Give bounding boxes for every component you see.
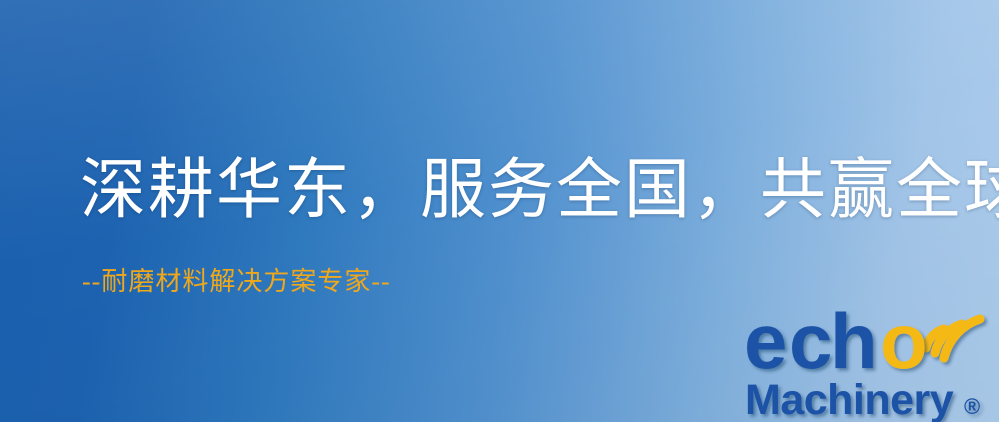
banner-subtitle: --耐磨材料解决方案专家-- (82, 266, 391, 298)
logo-letter-o: o (880, 297, 928, 385)
echo-machinery-logo[interactable]: e c h o Machinery ® (744, 296, 999, 422)
signal-wave-arc-outer (944, 319, 980, 358)
logo-letter-e: e (744, 297, 787, 385)
logo-tagline: Machinery (745, 376, 954, 422)
registered-trademark-icon: ® (964, 394, 980, 419)
signal-wave-icon (926, 319, 980, 358)
hero-banner: 深耕华东，服务全国，共赢全球 --耐磨材料解决方案专家-- e c h o (0, 0, 999, 422)
logo-letter-c: c (789, 297, 832, 385)
logo-letter-h: h (830, 297, 878, 385)
banner-headline: 深耕华东，服务全国，共赢全球 (80, 152, 999, 230)
